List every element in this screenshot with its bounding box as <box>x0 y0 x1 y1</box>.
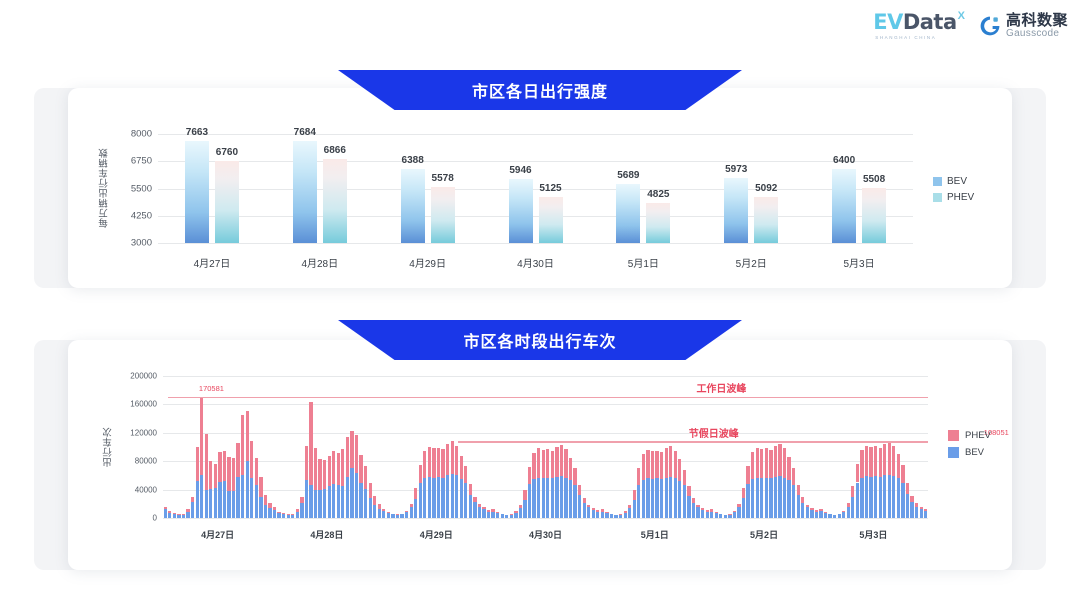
chart2-bar-phev <box>341 449 344 486</box>
chart2-bar-phev <box>646 450 649 478</box>
chart2-bar-phev <box>760 449 763 478</box>
chart1-x-tick-label: 4月28日 <box>301 255 338 270</box>
chart2-bar-phev <box>751 452 754 479</box>
chart2-bar-bev <box>883 475 886 518</box>
chart2-bar-bev <box>696 507 699 518</box>
chart2-bar-phev <box>373 496 376 505</box>
chart2-bar-bev <box>564 478 567 518</box>
chart2-bar-bev <box>578 495 581 518</box>
chart2-bar-bev <box>596 512 599 518</box>
chart2-bar-phev <box>551 451 554 479</box>
chart2-legend-item-bev[interactable]: BEV <box>948 447 991 458</box>
chart2-bar-bev <box>856 483 859 519</box>
gausscode-cn-text: 高科数聚 <box>1006 13 1068 29</box>
chart2-bar-bev <box>551 478 554 518</box>
chart2-bar-bev <box>341 486 344 518</box>
chart2-bar-bev <box>742 498 745 518</box>
chart2-bar-phev <box>555 447 558 477</box>
chart2-bar-phev <box>669 446 672 477</box>
chart2-bar-bev <box>464 483 467 518</box>
chart2-bar-bev <box>423 478 426 518</box>
chart1-y-tick-label: 3000 <box>100 238 152 249</box>
chart1-legend-item-bev[interactable]: BEV <box>933 176 974 187</box>
chart2-bar-phev <box>460 456 463 479</box>
chart2-bar-bev <box>391 514 394 518</box>
chart2-bar-bev <box>637 485 640 518</box>
chart2-bar-bev <box>205 490 208 518</box>
chart1-x-tick-label: 4月29日 <box>409 255 446 270</box>
chart2-bar-phev <box>783 448 786 477</box>
chart2-bar-bev <box>892 476 895 518</box>
chart2-bar-phev <box>309 402 312 484</box>
chart2-bar-phev <box>469 484 472 495</box>
chart2-bar-phev <box>888 441 891 474</box>
chart2-x-tick-label: 5月3日 <box>859 528 887 541</box>
chart2-bar-phev <box>223 451 226 482</box>
chart2-y-tick-label: 0 <box>103 514 157 523</box>
chart1-bar-bev <box>616 184 640 243</box>
chart2-bar-bev <box>869 477 872 518</box>
chart1-bar-phev <box>431 187 455 243</box>
chart2-bar-phev <box>642 454 645 480</box>
chart2-bar-phev <box>655 451 658 479</box>
chart1-bar-phev <box>646 203 670 243</box>
chart2-bar-phev <box>259 477 262 497</box>
chart1-bar-value-label: 5973 <box>725 164 747 175</box>
chart2-bar-phev <box>778 444 781 476</box>
chart2-bar-phev <box>742 488 745 498</box>
chart2-bar-bev <box>888 475 891 518</box>
chart2-bar-bev <box>847 507 850 518</box>
chart2-bar-bev <box>428 477 431 518</box>
chart2-bar-bev <box>674 478 677 518</box>
chart2-bar-bev <box>405 512 408 518</box>
chart1-bar-value-label: 7684 <box>294 127 316 138</box>
chart2-bar-phev <box>542 450 545 478</box>
chart2-bar-bev <box>683 485 686 518</box>
chart2-bar-phev <box>883 444 886 475</box>
chart2-bar-phev <box>633 490 636 499</box>
chart2-bar-phev <box>765 448 768 477</box>
chart2-bar-phev <box>350 431 353 468</box>
chart2-bar-bev <box>532 479 535 518</box>
chart2-bar-bev <box>182 515 185 518</box>
chart2-bar-bev <box>186 512 189 518</box>
chart2-bar-phev <box>769 450 772 478</box>
chart1-bar-value-label: 7663 <box>186 127 208 138</box>
evdata-logo-ev-text: EV <box>873 12 903 33</box>
chart2-bar-bev <box>614 515 617 518</box>
chart2-bar-bev <box>706 512 709 518</box>
chart2-bar-bev <box>337 485 340 518</box>
daily-intensity-chart: 每万辆出行车辆数30004250550067508000766367604月27… <box>68 88 1012 288</box>
chart2-bar-phev <box>546 449 549 477</box>
chart2-bar-bev <box>273 510 276 518</box>
chart2-bar-phev <box>564 449 567 477</box>
chart2-bar-bev <box>897 478 900 518</box>
chart2-bar-bev <box>514 513 517 518</box>
chart2-bar-phev <box>227 457 230 491</box>
chart2-bar-phev <box>241 415 244 475</box>
gausscode-text-block: 高科数聚 Gausscode <box>1006 13 1068 39</box>
chart2-bar-phev <box>218 452 221 482</box>
section-1-banner-title: 市区各日出行强度 <box>338 70 742 110</box>
chart2-bar-phev <box>573 468 576 484</box>
chart2-bar-phev <box>523 490 526 500</box>
chart2-bar-phev <box>196 447 199 481</box>
chart2-bar-bev <box>396 515 399 518</box>
chart2-bar-bev <box>441 478 444 518</box>
chart2-x-tick-label: 4月30日 <box>529 528 562 541</box>
chart2-bar-bev <box>209 489 212 518</box>
chart2-bar-bev <box>851 497 854 518</box>
chart2-bar-phev <box>637 468 640 485</box>
chart2-bar-bev <box>264 505 267 518</box>
chart2-bar-bev <box>678 481 681 518</box>
chart2-bar-bev <box>828 514 831 518</box>
chart2-bar-phev <box>328 456 331 487</box>
gausscode-en-text: Gausscode <box>1006 29 1068 40</box>
chart2-bar-phev <box>419 465 422 483</box>
chart1-y-tick-label: 8000 <box>100 129 152 140</box>
chart2-bar-bev <box>282 514 285 518</box>
evdata-logo-x-icon: X <box>958 10 965 22</box>
chart2-bar-bev <box>906 494 909 518</box>
chart2-legend-item-phev[interactable]: PHEV <box>948 430 991 441</box>
chart2-bar-phev <box>437 448 440 477</box>
chart1-gridline <box>158 161 913 162</box>
chart2-bar-phev <box>901 465 904 483</box>
chart2-bar-bev <box>277 513 280 518</box>
chart2-bar-bev <box>432 478 435 518</box>
chart2-bar-bev <box>369 498 372 518</box>
chart2-bar-phev <box>200 397 203 475</box>
chart2-bar-phev <box>897 454 900 478</box>
chart2-bar-bev <box>879 477 882 518</box>
chart2-bar-phev <box>364 466 367 489</box>
chart2-bar-bev <box>318 490 321 518</box>
chart2-bar-bev <box>164 509 167 518</box>
chart2-bar-bev <box>246 461 249 518</box>
chart1-bar-bev <box>509 179 533 243</box>
chart2-bar-bev <box>469 495 472 518</box>
chart2-bar-bev <box>555 477 558 518</box>
chart2-bar-bev <box>783 478 786 518</box>
chart2-bar-phev <box>355 435 358 473</box>
chart1-legend-swatch <box>933 177 942 186</box>
chart1-legend-label: PHEV <box>947 192 974 203</box>
chart2-bar-phev <box>455 446 458 475</box>
chart2-bar-phev <box>665 448 668 477</box>
chart2-bar-bev <box>806 507 809 518</box>
chart2-bar-bev <box>655 478 658 518</box>
chart2-bar-bev <box>487 512 490 518</box>
chart2-bar-bev <box>569 480 572 518</box>
chart2-bar-bev <box>810 510 813 518</box>
chart2-bar-phev <box>264 495 267 505</box>
chart1-gridline <box>158 216 913 217</box>
chart2-bar-bev <box>287 515 290 518</box>
chart2-bar-bev <box>437 477 440 518</box>
chart2-bar-bev <box>496 513 499 518</box>
chart2-bar-bev <box>378 509 381 518</box>
chart1-bar-bev <box>293 141 317 243</box>
section-2-banner: 市区各时段出行车次 <box>0 320 1080 360</box>
chart2-bar-bev <box>168 513 171 518</box>
chart2-bar-bev <box>560 476 563 518</box>
chart1-bar-value-label: 6388 <box>402 155 424 166</box>
chart2-bar-phev <box>464 466 467 483</box>
chart2-x-tick-label: 4月29日 <box>420 528 453 541</box>
chart2-bar-phev <box>792 468 795 485</box>
chart2-bar-phev <box>892 446 895 476</box>
chart2-bar-bev <box>223 481 226 518</box>
gausscode-mark-icon <box>979 15 1001 37</box>
chart2-bar-bev <box>865 476 868 518</box>
chart2-bar-bev <box>455 475 458 518</box>
chart2-bar-phev <box>369 483 372 499</box>
chart2-bar-bev <box>482 509 485 518</box>
chart2-bar-bev <box>737 507 740 518</box>
chart2-gridline <box>163 404 928 405</box>
chart2-legend-swatch <box>948 430 959 441</box>
chart2-bar-phev <box>787 457 790 480</box>
chart1-bar-phev <box>215 161 239 243</box>
chart2-bar-phev <box>906 483 909 494</box>
chart2-bar-bev <box>665 478 668 518</box>
chart2-bar-phev <box>537 448 540 477</box>
chart1-bar-value-label: 5689 <box>617 170 639 181</box>
chart2-bar-bev <box>519 508 522 518</box>
chart2-bar-bev <box>255 485 258 518</box>
chart2-bar-bev <box>177 515 180 518</box>
chart2-bar-bev <box>328 486 331 518</box>
chart2-bar-bev <box>860 478 863 518</box>
chart1-x-tick-label: 4月27日 <box>194 255 231 270</box>
chart2-bar-bev <box>505 515 508 518</box>
chart1-bar-value-label: 5125 <box>539 183 561 194</box>
chart2-bar-bev <box>833 515 836 518</box>
chart2-bar-bev <box>236 477 239 518</box>
chart2-bar-phev <box>869 447 872 477</box>
evdata-logo-subtitle: SHANGHAI CHINA <box>875 35 936 40</box>
chart2-x-tick-label: 4月28日 <box>310 528 343 541</box>
chart2-bar-bev <box>815 512 818 518</box>
chart2-bar-phev <box>560 445 563 476</box>
chart2-bar-bev <box>196 481 199 518</box>
chart2-bar-bev <box>797 495 800 518</box>
chart2-bar-bev <box>651 479 654 518</box>
chart2-bar-bev <box>332 484 335 518</box>
chart2-annotation-line-weekday-peak <box>168 397 928 399</box>
chart1-legend-item-phev[interactable]: PHEV <box>933 192 974 203</box>
chart2-bar-bev <box>364 489 367 518</box>
chart2-bar-phev <box>756 448 759 478</box>
chart2-bar-bev <box>400 514 403 518</box>
chart2-bar-phev <box>451 441 454 474</box>
chart2-bar-bev <box>901 483 904 518</box>
chart2-bar-phev <box>323 460 326 488</box>
chart1-x-tick-label: 5月1日 <box>628 255 659 270</box>
chart2-bar-bev <box>792 485 795 518</box>
chart2-x-tick-label: 5月1日 <box>641 528 669 541</box>
chart2-y-tick-label: 120000 <box>103 428 157 437</box>
chart2-legend-label: BEV <box>965 447 984 458</box>
chart2-bar-bev <box>687 496 690 518</box>
chart2-bar-bev <box>592 510 595 518</box>
chart1-x-tick-label: 4月30日 <box>517 255 554 270</box>
chart2-bar-bev <box>669 477 672 518</box>
gausscode-logo: 高科数聚 Gausscode <box>979 13 1068 39</box>
chart2-bar-phev <box>332 451 335 484</box>
chart2-bar-bev <box>920 509 923 518</box>
chart2-bar-bev <box>619 515 622 518</box>
chart2-bar-bev <box>218 482 221 518</box>
chart2-gridline <box>163 433 928 434</box>
chart2-bar-bev <box>646 478 649 518</box>
chart2-bar-bev <box>359 483 362 518</box>
chart1-bar-value-label: 5508 <box>863 174 885 185</box>
chart2-bar-bev <box>642 480 645 518</box>
chart2-bar-bev <box>355 473 358 518</box>
chart1-bar-value-label: 6400 <box>833 155 855 166</box>
chart1-bar-value-label: 4825 <box>647 189 669 200</box>
chart2-bar-bev <box>583 503 586 518</box>
section-2-banner-title: 市区各时段出行车次 <box>338 320 742 360</box>
chart2-bar-bev <box>751 479 754 518</box>
chart2-bar-bev <box>473 502 476 518</box>
chart2-legend: PHEVBEV <box>948 430 991 458</box>
chart2-bar-phev <box>314 448 317 490</box>
chart1-bar-bev <box>185 141 209 243</box>
chart2-bar-bev <box>446 475 449 518</box>
chart2-bar-phev <box>346 437 349 477</box>
chart2-bar-bev <box>460 479 463 518</box>
chart2-bar-bev <box>910 502 913 518</box>
chart2-bar-bev <box>323 489 326 518</box>
chart2-bar-bev <box>173 514 176 518</box>
chart2-bar-bev <box>874 476 877 518</box>
chart1-x-tick-label: 5月2日 <box>736 255 767 270</box>
chart2-bar-bev <box>523 500 526 518</box>
chart2-bar-phev <box>255 458 258 485</box>
chart2-bar-bev <box>350 468 353 518</box>
chart1-y-tick-label: 4250 <box>100 210 152 221</box>
chart2-y-tick-label: 80000 <box>103 457 157 466</box>
chart1-bar-bev <box>724 178 748 243</box>
section-1-card: 每万辆出行车辆数30004250550067508000766367604月27… <box>68 88 1012 288</box>
chart2-bar-bev <box>268 508 271 518</box>
chart2-bar-phev <box>660 452 663 479</box>
chart2-bar-bev <box>528 484 531 518</box>
chart2-bar-bev <box>801 503 804 518</box>
chart2-bar-phev <box>746 466 749 484</box>
slide-page: EV Data X SHANGHAI CHINA 高科数聚 Gausscode … <box>0 0 1080 608</box>
chart2-bar-phev <box>214 464 217 488</box>
chart2-bar-phev <box>428 447 431 477</box>
chart2-bar-bev <box>715 513 718 518</box>
chart2-bar-phev <box>687 486 690 496</box>
chart2-bar-bev <box>765 478 768 518</box>
header-logos: EV Data X SHANGHAI CHINA 高科数聚 Gausscode <box>873 12 1068 40</box>
chart2-bar-bev <box>587 507 590 518</box>
chart2-bar-bev <box>451 474 454 518</box>
chart1-y-tick-label: 6750 <box>100 156 152 167</box>
chart2-bar-bev <box>756 478 759 518</box>
chart1-gridline <box>158 134 913 135</box>
chart1-bar-value-label: 6760 <box>216 147 238 158</box>
chart2-bar-bev <box>628 508 631 518</box>
chart2-gridline <box>163 376 928 377</box>
chart2-bar-bev <box>774 477 777 518</box>
chart1-bar-bev <box>401 169 425 243</box>
chart2-gridline <box>163 518 928 519</box>
chart2-x-tick-label: 4月27日 <box>201 528 234 541</box>
chart2-bar-phev <box>446 444 449 475</box>
chart2-bar-phev <box>578 485 581 495</box>
chart2-bar-phev <box>337 453 340 485</box>
chart2-bar-bev <box>624 513 627 518</box>
chart2-bar-bev <box>510 515 513 518</box>
chart2-bar-phev <box>874 446 877 476</box>
chart2-bar-bev <box>838 514 841 518</box>
chart2-bar-bev <box>610 514 613 518</box>
chart2-bar-phev <box>532 453 535 479</box>
chart2-bar-bev <box>778 476 781 518</box>
chart2-bar-bev <box>309 485 312 518</box>
chart2-bar-bev <box>200 475 203 518</box>
chart2-bar-phev <box>797 485 800 496</box>
chart2-bar-bev <box>314 490 317 518</box>
chart2-bar-bev <box>546 478 549 518</box>
chart2-bar-phev <box>414 488 417 499</box>
chart2-bar-phev <box>678 459 681 481</box>
chart2-bar-phev <box>851 486 854 497</box>
chart2-bar-bev <box>660 479 663 518</box>
chart2-bar-bev <box>414 499 417 518</box>
chart2-bar-bev <box>241 475 244 518</box>
chart1-bar-bev <box>832 169 856 243</box>
chart2-bar-bev <box>259 497 262 518</box>
section-1-banner: 市区各日出行强度 <box>0 70 1080 110</box>
chart2-bar-bev <box>819 511 822 518</box>
chart2-bar-phev <box>674 451 677 479</box>
chart2-bar-bev <box>746 484 749 518</box>
chart2-y-tick-label: 160000 <box>103 400 157 409</box>
chart2-bar-bev <box>191 502 194 518</box>
chart2-bar-phev <box>236 443 239 476</box>
chart2-bar-bev <box>573 485 576 518</box>
chart2-bar-phev <box>205 434 208 490</box>
chart2-bar-bev <box>305 480 308 518</box>
chart1-legend-swatch <box>933 193 942 202</box>
chart1-legend-label: BEV <box>947 176 967 187</box>
chart2-y-tick-label: 200000 <box>103 372 157 381</box>
chart2-y-tick-label: 40000 <box>103 485 157 494</box>
chart1-bar-phev <box>754 197 778 243</box>
chart2-bar-bev <box>710 512 713 518</box>
chart1-gridline <box>158 189 913 190</box>
chart2-bar-phev <box>856 464 859 482</box>
chart2-bar-bev <box>733 512 736 518</box>
chart2-bar-bev <box>214 488 217 518</box>
chart2-annotation-label-holiday-peak: 节假日波峰 <box>689 425 739 440</box>
chart2-bar-bev <box>601 512 604 518</box>
chart2-bar-bev <box>300 503 303 518</box>
chart2-bar-bev <box>491 512 494 518</box>
chart2-bar-bev <box>760 478 763 518</box>
chart1-x-tick-label: 5月3日 <box>844 255 875 270</box>
